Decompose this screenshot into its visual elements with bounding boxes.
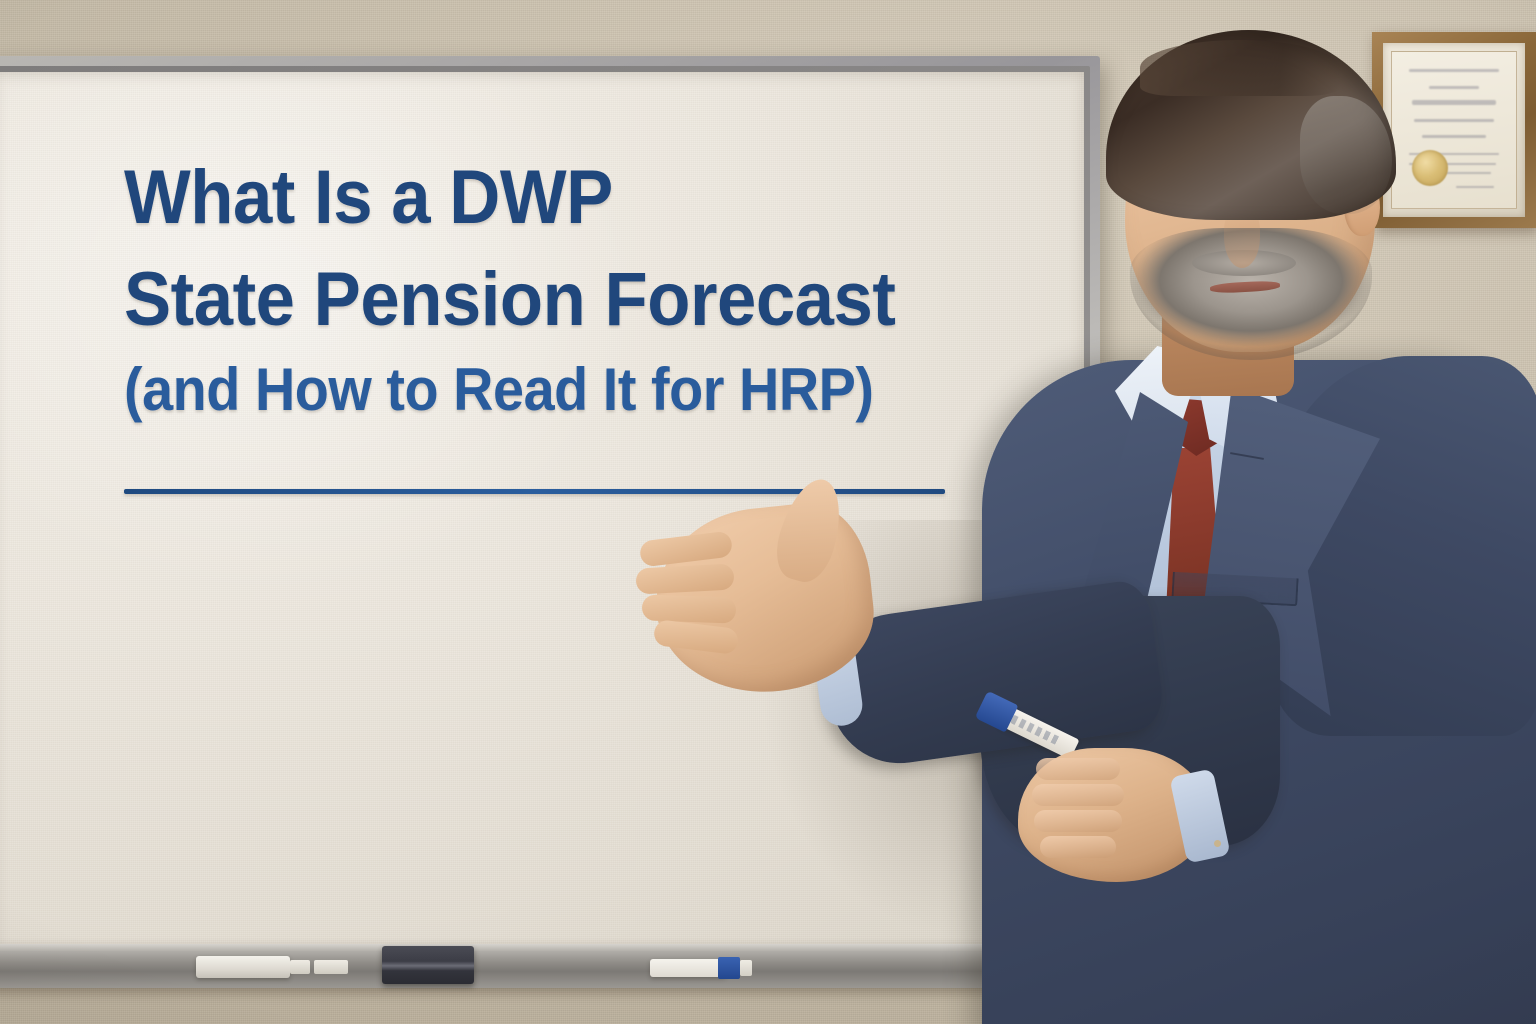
presenter-figure bbox=[940, 0, 1536, 1024]
tray-blue-marker-end bbox=[740, 960, 752, 976]
whiteboard-title-block: What Is a DWP State Pension Forecast (an… bbox=[124, 160, 964, 420]
tray-blue-marker-cap bbox=[718, 957, 740, 979]
finger bbox=[635, 563, 734, 594]
tray-white-marker[interactable] bbox=[196, 956, 290, 978]
title-line-2: State Pension Forecast bbox=[124, 262, 905, 338]
knuckle bbox=[1032, 784, 1124, 806]
tray-marker-barrel bbox=[314, 960, 348, 974]
whiteboard-marker-tray bbox=[0, 944, 1100, 988]
knuckle bbox=[1040, 836, 1116, 858]
hair-sweep bbox=[1140, 40, 1340, 96]
tray-lip bbox=[0, 944, 1100, 951]
finger bbox=[642, 594, 737, 623]
knuckle bbox=[1036, 758, 1120, 780]
tray-white-marker-tip bbox=[290, 960, 310, 974]
screenshot-canvas: What Is a DWP State Pension Forecast (an… bbox=[0, 0, 1536, 1024]
title-subtitle: (and How to Read It for HRP) bbox=[124, 360, 905, 420]
title-line-1: What Is a DWP bbox=[124, 160, 905, 236]
cuff-button bbox=[1214, 840, 1221, 847]
knuckle bbox=[1034, 810, 1122, 832]
tray-blue-marker-body[interactable] bbox=[650, 959, 726, 977]
tray-eraser[interactable] bbox=[382, 946, 474, 984]
